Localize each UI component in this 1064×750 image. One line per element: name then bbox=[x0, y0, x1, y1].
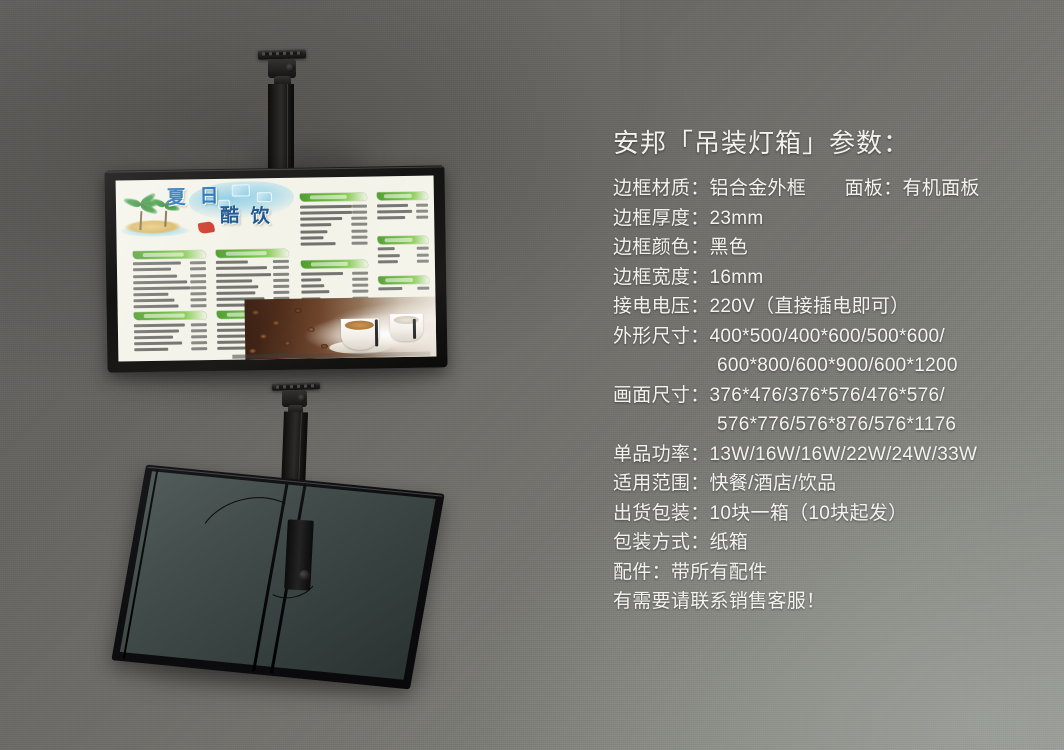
spec-line: 单品功率：13W/16W/16W/22W/24W/33W bbox=[613, 440, 1043, 470]
section-header-banner bbox=[301, 260, 368, 269]
menu-section bbox=[133, 250, 207, 311]
menu-row bbox=[378, 258, 429, 265]
section-header-banner bbox=[134, 311, 207, 320]
pole-seam bbox=[287, 84, 288, 176]
menu-row bbox=[378, 285, 429, 292]
section-header-banner bbox=[300, 193, 367, 202]
crema-graphic bbox=[345, 321, 374, 331]
section-header-banner bbox=[378, 275, 429, 284]
spec-line: 边框宽度：16mm bbox=[613, 263, 1043, 293]
product-photo: 夏 日 酷 饮 bbox=[0, 0, 1064, 750]
section-header-banner bbox=[133, 250, 206, 259]
spec-line: 出货包装：10块一箱（10块起发） bbox=[613, 499, 1043, 529]
spec-line: 适用范围：快餐/酒店/饮品 bbox=[613, 469, 1043, 499]
spec-line: 600*800/600*900/600*1200 bbox=[613, 351, 1043, 381]
plate-screw-holes bbox=[262, 51, 302, 55]
spec-line: 包装方式：纸箱 bbox=[613, 528, 1043, 558]
straw-graphic bbox=[413, 319, 416, 339]
menu-section bbox=[300, 193, 368, 247]
coffee-cup-graphic bbox=[340, 318, 379, 350]
straw-graphic bbox=[375, 319, 378, 347]
menu-section bbox=[377, 192, 428, 221]
section-header-banner bbox=[377, 192, 428, 201]
plate-screw-holes bbox=[276, 384, 316, 388]
menu-row bbox=[377, 214, 428, 221]
menu-row bbox=[301, 240, 368, 247]
menu-section bbox=[134, 311, 208, 353]
menu-panel: 夏 日 酷 饮 bbox=[116, 176, 437, 362]
lower-swivel-knob bbox=[298, 394, 306, 402]
spec-line: 边框厚度：23mm bbox=[613, 204, 1043, 234]
lightbox-display[interactable]: 夏 日 酷 饮 bbox=[104, 165, 447, 372]
coffee-cup-graphic bbox=[390, 314, 423, 342]
section-header-banner bbox=[377, 235, 428, 244]
menu-row bbox=[133, 303, 206, 310]
spec-line: 有需要请联系销售客服！ bbox=[613, 587, 1043, 617]
spec-title: 安邦「吊装灯箱」参数： bbox=[613, 126, 1043, 160]
spec-line: 接电电压：220V（直接插电即可） bbox=[613, 292, 1043, 322]
menu-section bbox=[377, 235, 428, 264]
spec-line: 576*776/576*876/576*1176 bbox=[613, 410, 1043, 440]
spec-line: 边框材质：铝合金外框 面板：有机面板 bbox=[613, 174, 1043, 204]
menu-section bbox=[301, 260, 368, 302]
spec-panel: 安邦「吊装灯箱」参数：边框材质：铝合金外框 面板：有机面板边框厚度：23mm边框… bbox=[613, 126, 1043, 617]
spec-line: 外形尺寸：400*500/400*600/500*600/ bbox=[613, 322, 1043, 352]
spec-line: 边框颜色：黑色 bbox=[613, 233, 1043, 263]
spec-line: 配件：带所有配件 bbox=[613, 558, 1043, 588]
top-support-pole bbox=[268, 84, 294, 176]
menu-row bbox=[134, 346, 207, 353]
spec-line: 画面尺寸：376*476/376*576/476*576/ bbox=[613, 381, 1043, 411]
top-swivel-knob bbox=[286, 63, 295, 72]
menu-section bbox=[378, 275, 429, 292]
coffee-photo bbox=[245, 297, 437, 360]
coffee-beans-graphic bbox=[245, 298, 338, 359]
section-header-banner bbox=[215, 248, 288, 257]
